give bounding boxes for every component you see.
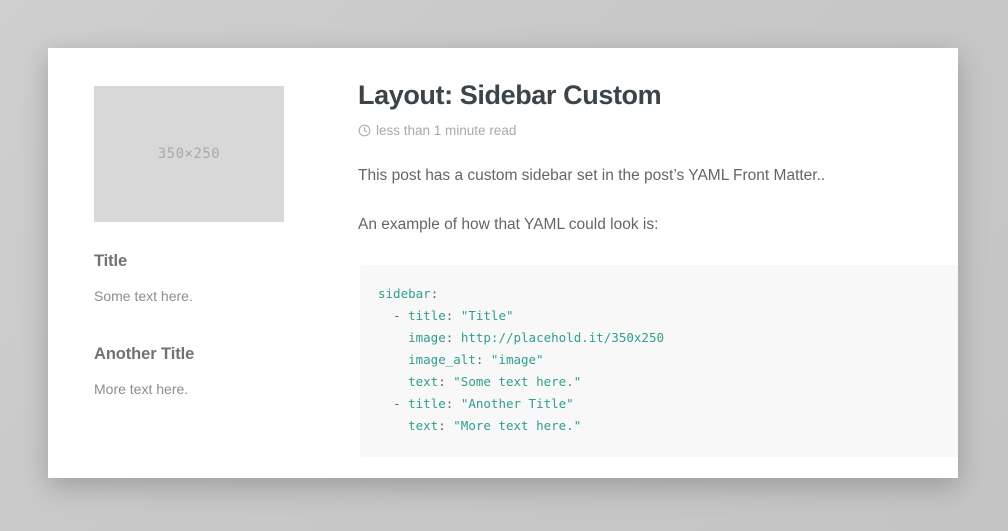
post-paragraph-2: An example of how that YAML could look i… xyxy=(358,213,958,236)
read-time-label: less than 1 minute read xyxy=(376,123,516,138)
page-title: Layout: Sidebar Custom xyxy=(358,80,958,111)
sidebar-image-placeholder: 350×250 xyxy=(94,86,284,222)
sidebar-title-1: Title xyxy=(94,252,299,271)
sidebar-block-2: Another Title More text here. xyxy=(94,345,299,400)
code-block-content: sidebar: - title: "Title" image: http://… xyxy=(378,283,958,437)
post-content: Layout: Sidebar Custom less than 1 minut… xyxy=(358,80,958,478)
sidebar-title-2: Another Title xyxy=(94,345,299,364)
code-block: sidebar: - title: "Title" image: http://… xyxy=(360,265,958,457)
post-card: 350×250 Title Some text here. Another Ti… xyxy=(48,48,958,478)
sidebar-text-2: More text here. xyxy=(94,379,299,400)
clock-icon xyxy=(358,124,371,137)
sidebar-text-1: Some text here. xyxy=(94,286,299,307)
sidebar-block-1: Title Some text here. xyxy=(94,252,299,307)
post-sidebar: 350×250 Title Some text here. Another Ti… xyxy=(94,86,299,400)
post-paragraph-1: This post has a custom sidebar set in th… xyxy=(358,164,958,187)
post-meta: less than 1 minute read xyxy=(358,123,958,138)
sidebar-image-placeholder-label: 350×250 xyxy=(158,146,221,162)
